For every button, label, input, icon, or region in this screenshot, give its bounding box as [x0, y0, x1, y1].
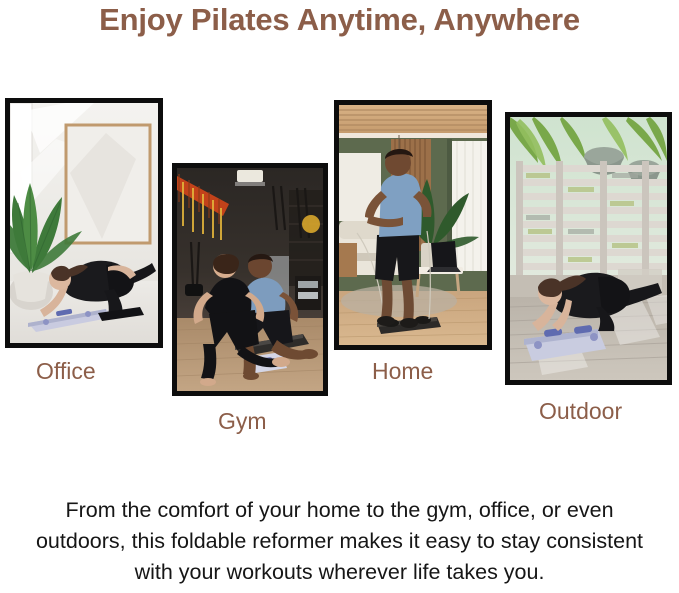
photo-office — [10, 103, 158, 343]
page-title: Enjoy Pilates Anytime, Anywhere — [0, 2, 679, 38]
scene-home-illustration — [339, 105, 487, 345]
photo-card-gym — [172, 163, 328, 396]
photo-gym — [177, 168, 323, 391]
photo-home — [339, 105, 487, 345]
scene-office-illustration — [10, 103, 158, 343]
scene-gym-illustration — [177, 168, 323, 391]
caption-text: From the comfort of your home to the gym… — [18, 495, 661, 588]
photo-label-outdoor: Outdoor — [539, 398, 622, 425]
photo-label-office: Office — [36, 358, 96, 385]
promo-banner: Enjoy Pilates Anytime, Anywhere — [0, 0, 679, 593]
photo-card-outdoor — [505, 112, 672, 385]
photo-outdoor — [510, 117, 667, 380]
photo-card-office — [5, 98, 163, 348]
photo-label-home: Home — [372, 358, 433, 385]
photo-label-gym: Gym — [218, 408, 267, 435]
photo-card-home — [334, 100, 492, 350]
scene-outdoor-illustration — [510, 117, 667, 380]
